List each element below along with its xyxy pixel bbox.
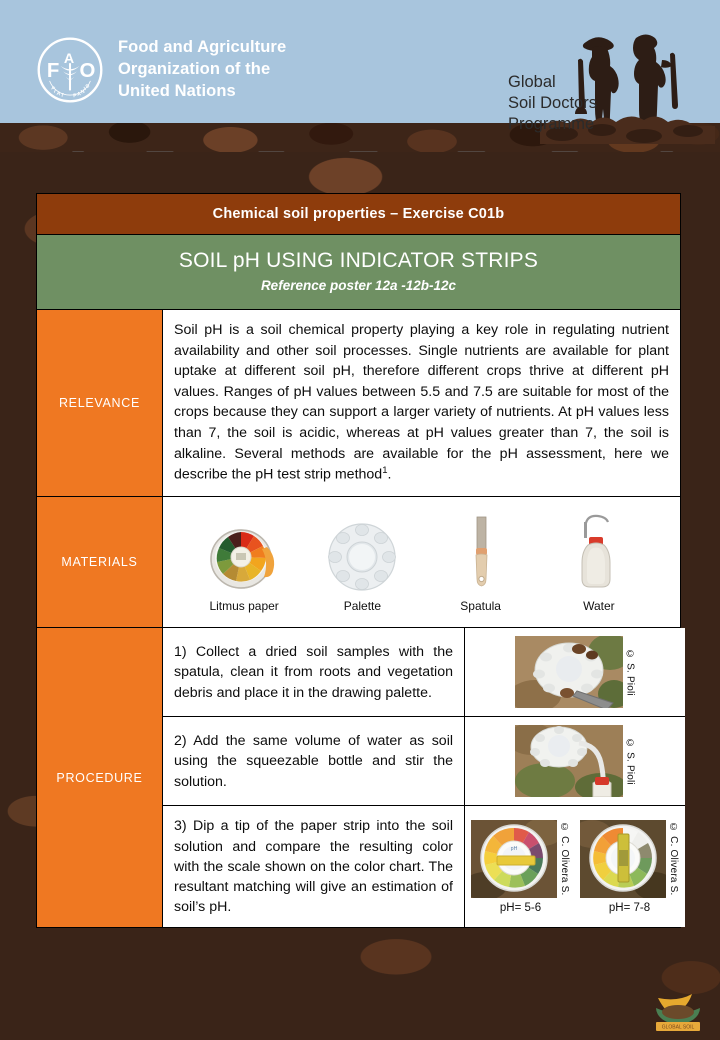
photo-caption: pH= 5-6 bbox=[471, 902, 570, 914]
fao-line-2: Organization of the bbox=[118, 59, 286, 81]
procedure-step: 2) Add the same volume of water as soil … bbox=[163, 717, 685, 806]
material-item: Water bbox=[544, 513, 654, 613]
procedure-cell: 1) Collect a dried soil samples with the… bbox=[163, 628, 685, 927]
procedure-step-text: 1) Collect a dried soil samples with the… bbox=[163, 628, 465, 716]
photo-wrap: © S. Pioli bbox=[515, 725, 636, 797]
relevance-text: Soil pH is a soil chemical property play… bbox=[163, 310, 680, 496]
palette-with-bottle-photo bbox=[515, 725, 623, 797]
photo-credit: © C. Olivera S. bbox=[559, 822, 570, 895]
paint-palette-icon bbox=[307, 513, 417, 591]
materials-row: MATERIALS bbox=[37, 497, 680, 628]
svg-text:F: F bbox=[47, 60, 59, 82]
procedure-step: 1) Collect a dried soil samples with the… bbox=[163, 628, 685, 717]
relevance-label: RELEVANCE bbox=[37, 310, 163, 496]
svg-text:pH: pH bbox=[511, 846, 518, 852]
procedure-step: 3) Dip a tip of the paper strip into the… bbox=[163, 806, 685, 927]
photo-wrap: © S. Pioli bbox=[515, 636, 636, 708]
ph-wheel-acid-photo: pH bbox=[471, 820, 557, 898]
photo-wrap: pH © C. Olivera S. bbox=[471, 820, 570, 898]
procedure-step-media: © S. Pioli bbox=[465, 628, 685, 716]
materials-cell: Litmus paper bbox=[163, 497, 680, 627]
programme-line-2: Soil Doctors bbox=[508, 93, 597, 114]
programme-title: Global Soil Doctors Programme bbox=[508, 72, 597, 134]
photo-with-caption: © C. Olivera S. pH= 7-8 bbox=[580, 820, 679, 914]
photo-with-caption: pH © C. Olivera S. pH= 5-6 bbox=[471, 820, 570, 914]
material-caption: Water bbox=[544, 599, 654, 613]
relevance-text-end: . bbox=[387, 467, 391, 483]
ph-wheel-neutral-photo bbox=[580, 820, 666, 898]
photo-credit: © S. Pioli bbox=[625, 649, 636, 696]
fao-logo: F A O F I A T P A N I S Food and Agricul… bbox=[36, 36, 286, 104]
fao-wordmark: Food and Agriculture Organization of the… bbox=[118, 37, 286, 103]
fao-emblem-icon: F A O F I A T P A N I S bbox=[36, 36, 104, 104]
wash-bottle-icon bbox=[544, 513, 654, 591]
svg-text:GLOBAL SOIL: GLOBAL SOIL bbox=[662, 1025, 695, 1031]
material-caption: Litmus paper bbox=[189, 599, 299, 613]
material-caption: Palette bbox=[307, 599, 417, 613]
fao-line-1: Food and Agriculture bbox=[118, 37, 286, 59]
procedure-step-media: © S. Pioli bbox=[465, 717, 685, 805]
page-header-banner: Global Soil Doctors Programme F A O F I … bbox=[0, 0, 720, 152]
relevance-row: RELEVANCE Soil pH is a soil chemical pro… bbox=[37, 310, 680, 497]
relevance-body: Soil pH is a soil chemical property play… bbox=[174, 322, 669, 483]
programme-line-1: Global bbox=[508, 72, 597, 93]
materials-label: MATERIALS bbox=[37, 497, 163, 627]
photo-wrap: © C. Olivera S. bbox=[580, 820, 679, 898]
programme-line-3: Programme bbox=[508, 114, 597, 135]
title-bar: SOIL pH USING INDICATOR STRIPS Reference… bbox=[37, 235, 680, 310]
litmus-paper-wheel-icon bbox=[189, 513, 299, 591]
material-item: Spatula bbox=[426, 513, 536, 613]
photo-credit: © C. Olivera S. bbox=[668, 822, 679, 895]
fao-line-3: United Nations bbox=[118, 81, 286, 103]
relevance-cell: Soil pH is a soil chemical property play… bbox=[163, 310, 680, 496]
procedure-step-text: 3) Dip a tip of the paper strip into the… bbox=[163, 806, 465, 927]
photo-credit: © S. Pioli bbox=[625, 738, 636, 785]
material-item: Palette bbox=[307, 513, 417, 613]
spatula-icon bbox=[426, 513, 536, 591]
procedure-label: PROCEDURE bbox=[37, 628, 163, 927]
procedure-step-media: pH © C. Olivera S. pH= 5-6 bbox=[465, 806, 685, 927]
exercise-card: Chemical soil properties – Exercise C01b… bbox=[36, 193, 681, 928]
page-title: SOIL pH USING INDICATOR STRIPS bbox=[43, 249, 674, 273]
photo-caption: pH= 7-8 bbox=[580, 902, 679, 914]
material-item: Litmus paper bbox=[189, 513, 299, 613]
material-caption: Spatula bbox=[426, 599, 536, 613]
global-soil-partnership-logo: GLOBAL SOIL bbox=[650, 988, 706, 1038]
page-subtitle: Reference poster 12a -12b-12c bbox=[43, 278, 674, 293]
procedure-step-text: 2) Add the same volume of water as soil … bbox=[163, 717, 465, 805]
procedure-row: PROCEDURE 1) Collect a dried soil sample… bbox=[37, 628, 680, 927]
svg-text:O: O bbox=[80, 60, 96, 82]
exercise-bar: Chemical soil properties – Exercise C01b bbox=[37, 194, 680, 235]
materials-list: Litmus paper bbox=[163, 497, 680, 627]
svg-text:T: T bbox=[60, 93, 65, 99]
palette-with-soil-photo bbox=[515, 636, 623, 708]
